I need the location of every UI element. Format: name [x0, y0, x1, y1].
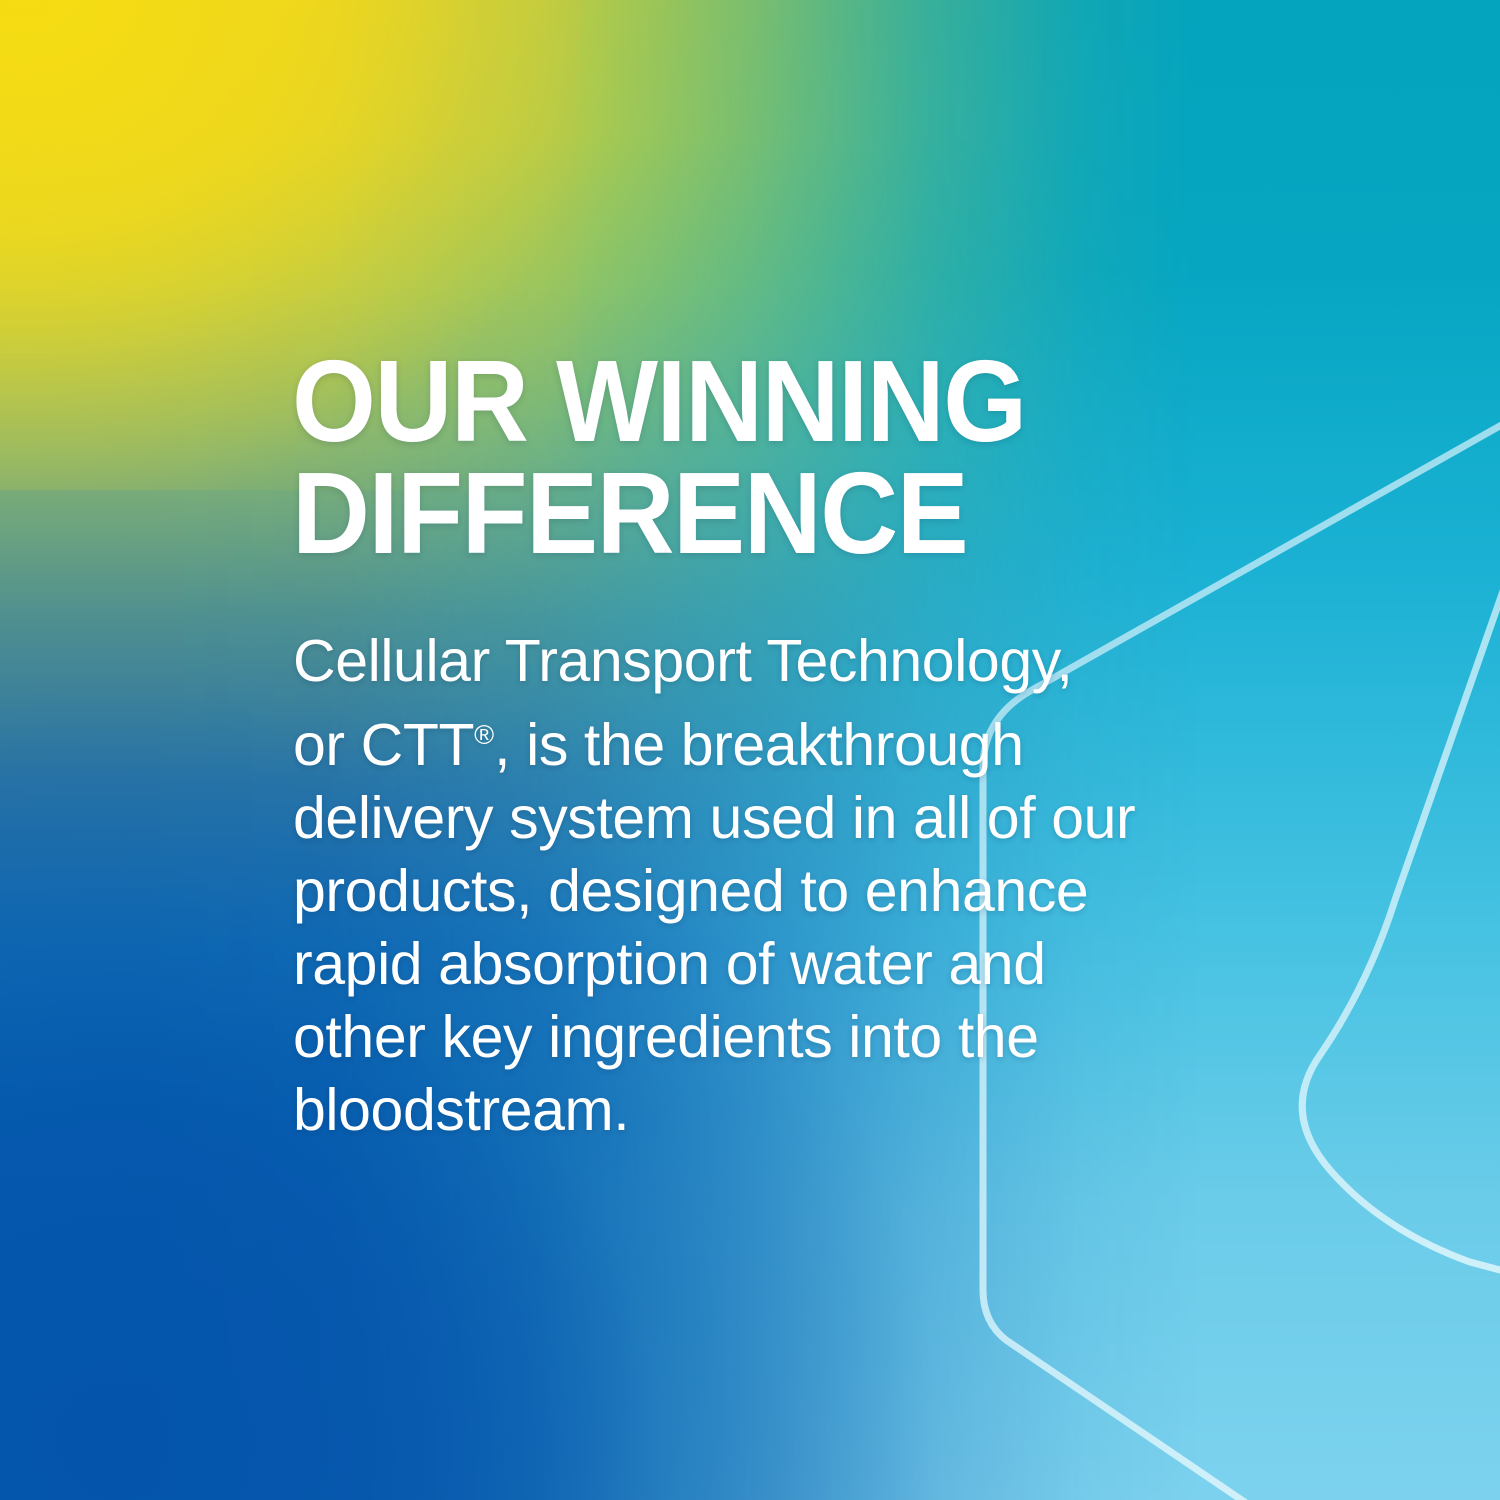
body-line-2-after: , is the breakthrough: [494, 712, 1024, 778]
page-title: OUR WINNING DIFFERENCE: [292, 345, 1129, 569]
promo-poster: OUR WINNING DIFFERENCE Cellular Transpor…: [0, 0, 1500, 1500]
body-line-2: or CTT®, is the breakthrough: [293, 698, 1243, 782]
body-line-2-before: or CTT: [293, 712, 474, 778]
body-paragraph: Cellular Transport Technology, or CTT®, …: [293, 625, 1243, 1147]
body-line-7: bloodstream.: [293, 1074, 1243, 1147]
body-line-1: Cellular Transport Technology,: [293, 625, 1243, 698]
body-line-5: rapid absorption of water and: [293, 928, 1243, 1001]
body-line-4: products, designed to enhance: [293, 855, 1243, 928]
body-line-6: other key ingredients into the: [293, 1001, 1243, 1074]
headline-line-1: OUR WINNING: [292, 345, 1129, 457]
headline-line-2: DIFFERENCE: [292, 457, 1129, 569]
registered-trademark-icon: ®: [474, 719, 494, 750]
body-line-3: delivery system used in all of our: [293, 782, 1243, 855]
